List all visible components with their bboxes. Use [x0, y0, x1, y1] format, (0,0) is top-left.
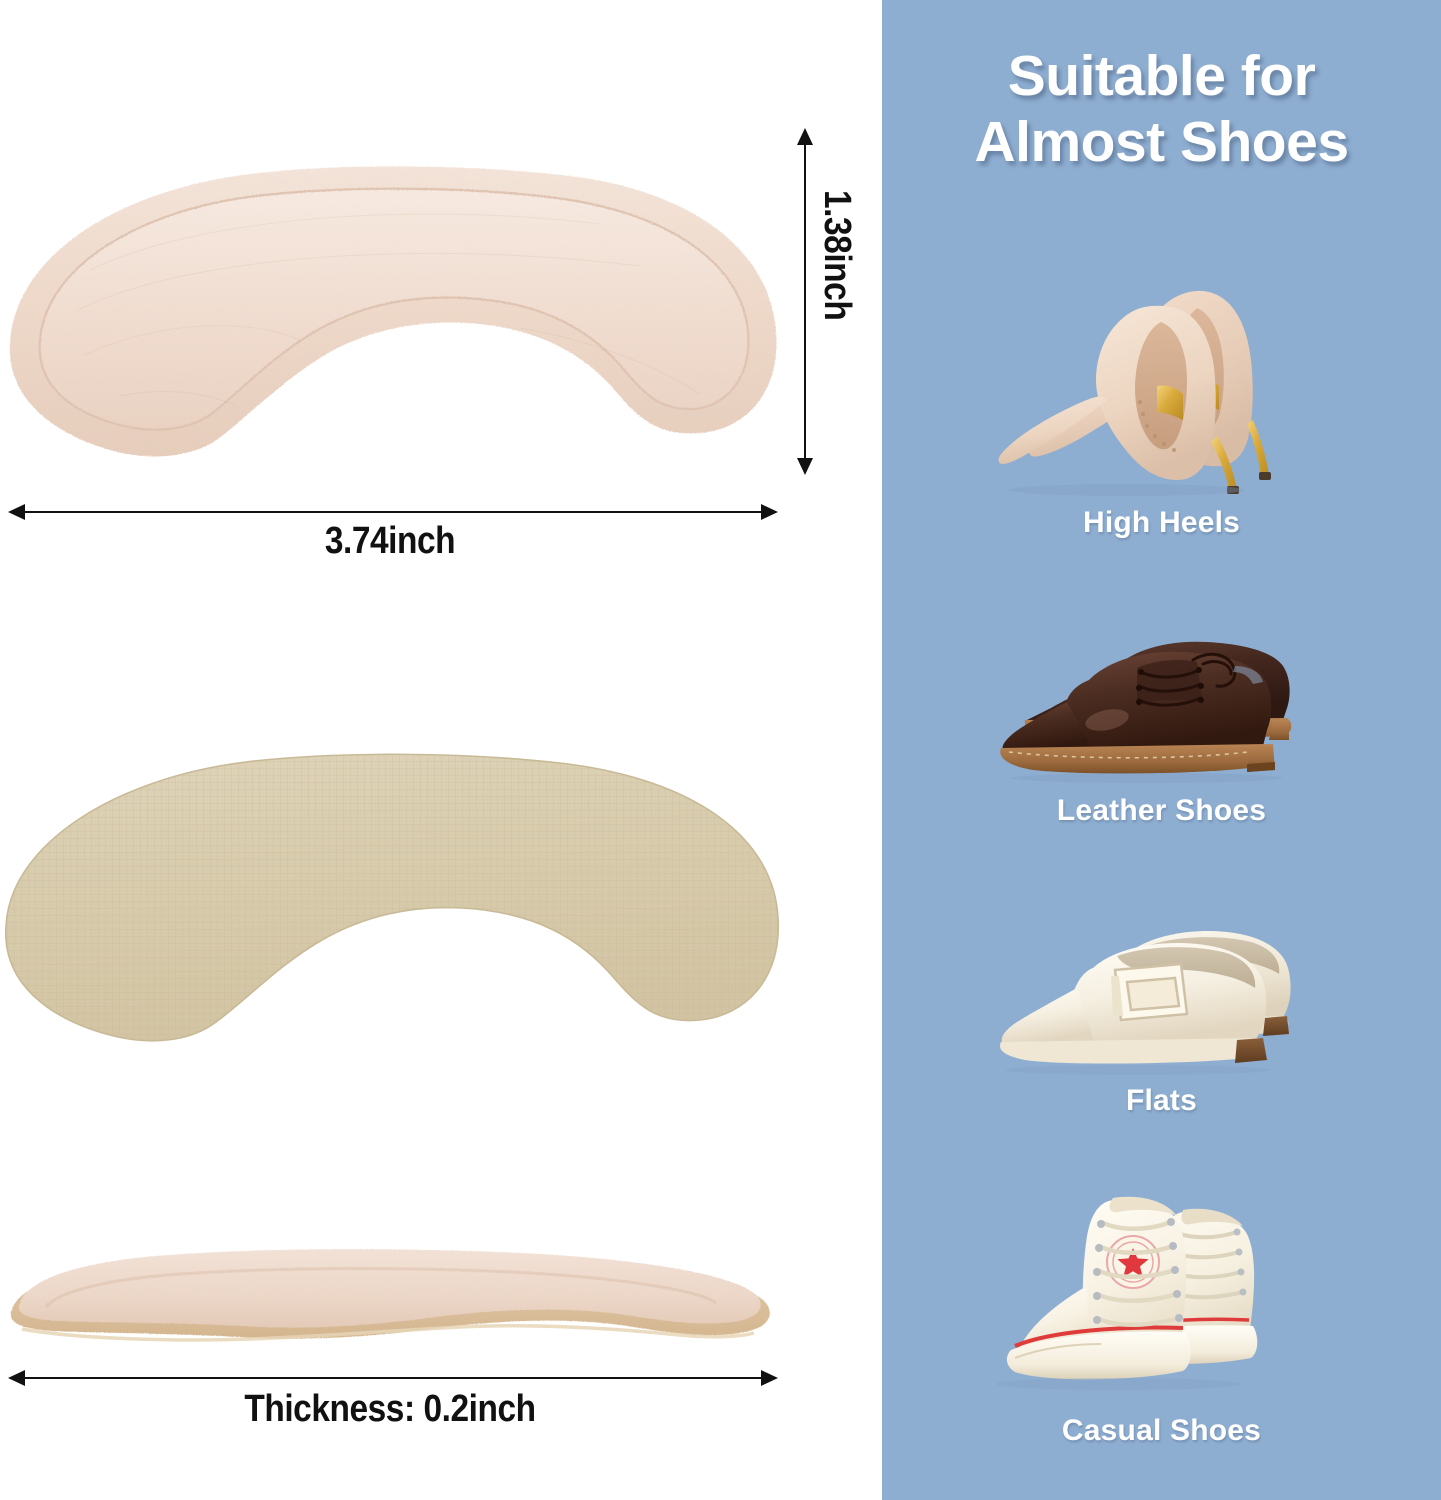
leather-shoes-caption: Leather Shoes [882, 794, 1441, 828]
shoe-type-leather-shoes: Leather Shoes [882, 608, 1441, 828]
headline-line-1: Suitable for [896, 44, 1427, 110]
thickness-dimension-label: Thickness: 0.2inch [47, 1388, 733, 1431]
leather-shoes-icon [997, 608, 1327, 788]
casual-shoes-image [882, 1178, 1441, 1408]
flats-icon [997, 898, 1327, 1078]
leather-shoes-image [882, 608, 1441, 788]
shoe-type-high-heels: High Heels [882, 268, 1441, 540]
pad-front-view [0, 150, 800, 470]
height-dimension-label: 1.38inch [815, 190, 858, 320]
headline-line-2: Almost Shoes [896, 110, 1427, 176]
shoe-type-casual-shoes: Casual Shoes [882, 1178, 1441, 1448]
flats-image [882, 898, 1441, 1078]
panel-headline: Suitable for Almost Shoes [882, 44, 1441, 175]
product-infographic: 1.38inch 3.74inch [0, 0, 1441, 1500]
width-dimension-label: 3.74inch [47, 520, 733, 563]
high-heels-icon [997, 268, 1327, 500]
high-heels-image [882, 268, 1441, 500]
pad-side-profile-view [0, 1245, 800, 1365]
shoe-type-flats: Flats [882, 898, 1441, 1118]
casual-shoes-icon [997, 1178, 1327, 1408]
pad-back-view [0, 740, 800, 1050]
left-product-panel: 1.38inch 3.74inch [0, 0, 882, 1500]
flats-caption: Flats [882, 1084, 1441, 1118]
high-heels-caption: High Heels [882, 506, 1441, 540]
right-compatibility-panel: Suitable for Almost Shoes [882, 0, 1441, 1500]
casual-shoes-caption: Casual Shoes [882, 1414, 1441, 1448]
